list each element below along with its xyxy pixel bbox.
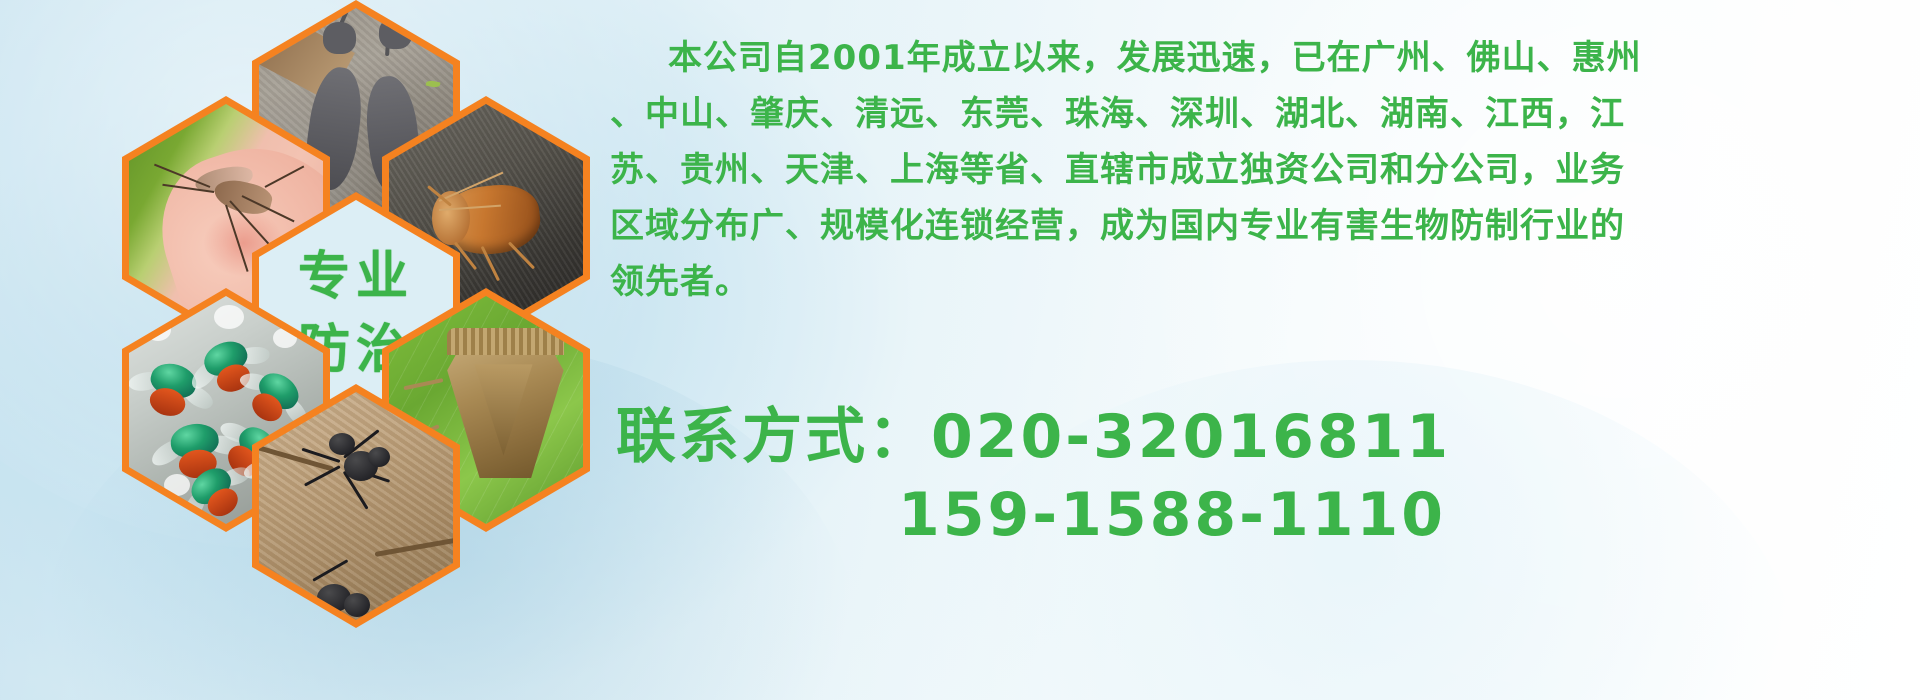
contact-block: 联系方式：020-32016811 159-1588-1110 — [616, 398, 1916, 554]
company-intro-paragraph: 本公司自2001年成立以来，发展迅速，已在广州、佛山、惠州 、中山、肇庆、清远、… — [610, 30, 1900, 310]
paragraph-line: 区域分布广、规模化连锁经营，成为国内专业有害生物防制行业的 — [610, 198, 1900, 254]
slogan-line-1: 专业 — [298, 246, 414, 309]
paragraph-line: 本公司自2001年成立以来，发展迅速，已在广州、佛山、惠州 — [610, 30, 1900, 86]
paragraph-line: 苏、贵州、天津、上海等省、直辖市成立独资公司和分公司，业务 — [610, 142, 1900, 198]
honeycomb-photo-cluster: 专业 防治 — [78, 0, 638, 586]
promo-banner: 专业 防治 — [0, 0, 1920, 700]
paragraph-line: 领先者。 — [610, 254, 1900, 310]
contact-line-landline[interactable]: 联系方式：020-32016811 — [616, 398, 1916, 476]
paragraph-line: 、中山、肇庆、清远、东莞、珠海、深圳、湖北、湖南、江西，江 — [610, 86, 1900, 142]
contact-line-mobile[interactable]: 159-1588-1110 — [616, 476, 1916, 554]
ant-photo — [259, 392, 453, 620]
